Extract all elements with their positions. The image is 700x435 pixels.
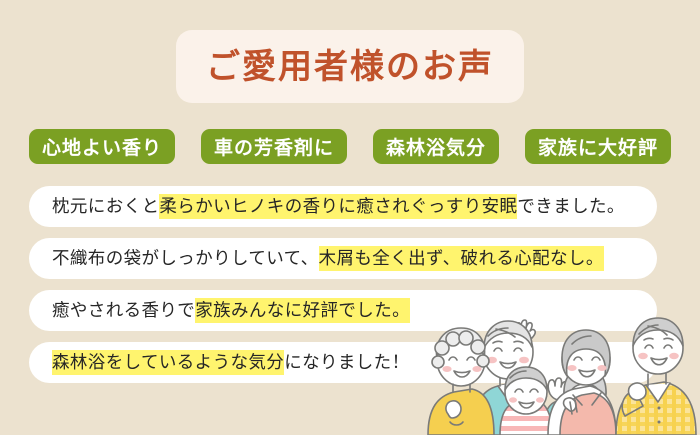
testimonial-pre: 癒やされる香りで [52, 300, 195, 320]
testimonial-text: 森林浴をしているような気分になりました！ [52, 353, 410, 372]
testimonial-row: 不織布の袋がしっかりしていて、木屑も全く出ず、破れる心配なし。 [29, 238, 657, 279]
testimonial-post: できました。 [517, 196, 624, 216]
testimonial-text: 癒やされる香りで家族みんなに好評でした。 [52, 301, 410, 320]
testimonial-row: 癒やされる香りで家族みんなに好評でした。 [29, 290, 657, 331]
testimonial-highlight: 家族みんなに好評でした。 [195, 298, 410, 323]
tag-car-air-freshener[interactable]: 車の芳香剤に [201, 129, 347, 164]
testimonial-row: 枕元におくと柔らかいヒノキの香りに癒されぐっすり安眠できました。 [29, 186, 657, 227]
page-title: ご愛用者様のお声 [206, 50, 494, 84]
testimonial-pre: 不織布の袋がしっかりしていて、 [52, 248, 319, 268]
testimonial-pre: 枕元におくと [52, 196, 159, 216]
testimonial-post: になりました！ [284, 352, 409, 372]
tag-family-favorite[interactable]: 家族に大好評 [525, 129, 671, 164]
tag-list: 心地よい香り 車の芳香剤に 森林浴気分 家族に大好評 [29, 129, 671, 164]
page-title-chip: ご愛用者様のお声 [176, 30, 524, 103]
testimonial-text: 不織布の袋がしっかりしていて、木屑も全く出ず、破れる心配なし。 [52, 249, 604, 268]
testimonial-text: 枕元におくと柔らかいヒノキの香りに癒されぐっすり安眠できました。 [52, 197, 625, 216]
tag-forest-bathing[interactable]: 森林浴気分 [373, 129, 499, 164]
testimonial-list: 枕元におくと柔らかいヒノキの香りに癒されぐっすり安眠できました。 不織布の袋がし… [29, 186, 657, 394]
testimonial-highlight: 柔らかいヒノキの香りに癒されぐっすり安眠 [159, 194, 517, 219]
testimonial-banner: ご愛用者様のお声 心地よい香り 車の芳香剤に 森林浴気分 家族に大好評 枕元にお… [0, 0, 700, 435]
tag-comfortable-scent[interactable]: 心地よい香り [29, 129, 175, 164]
testimonial-highlight: 木屑も全く出ず、破れる心配なし。 [319, 246, 604, 271]
testimonial-highlight: 森林浴をしているような気分 [52, 350, 284, 375]
testimonial-row: 森林浴をしているような気分になりました！ [29, 342, 657, 383]
